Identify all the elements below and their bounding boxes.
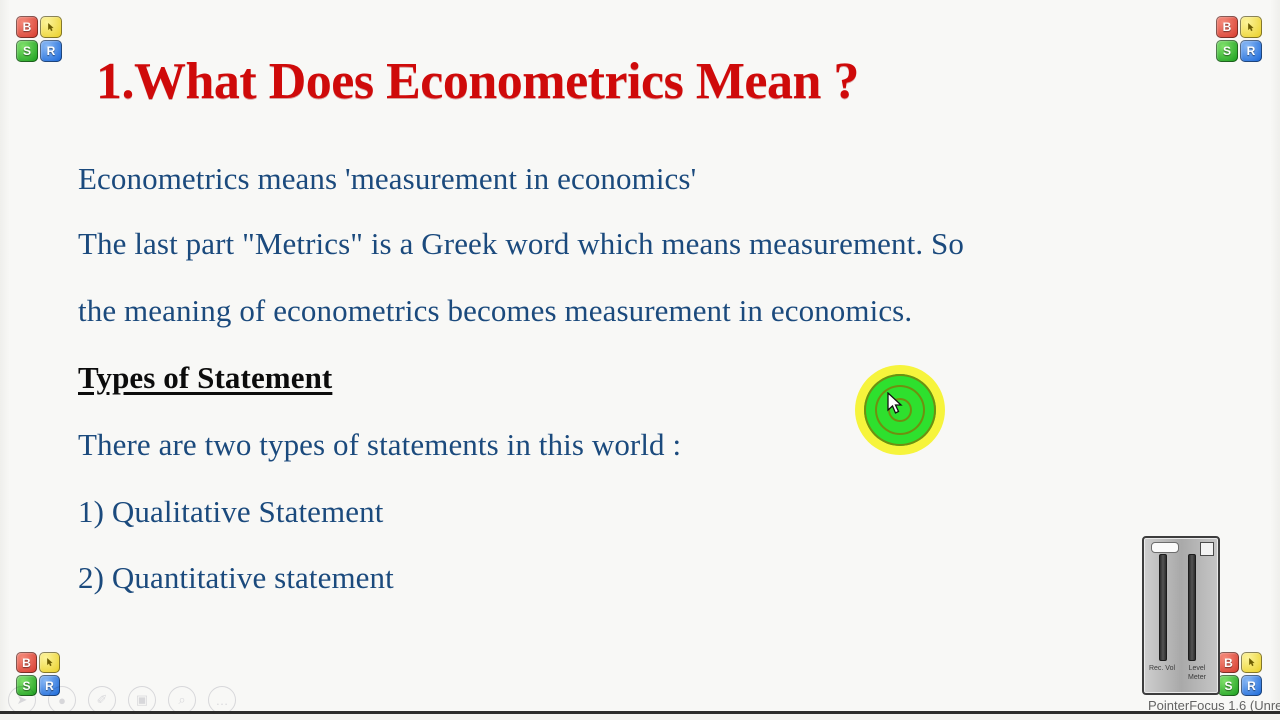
mini-cursor-icon: [47, 658, 53, 667]
slide-body-line-2: The last part "Metrics" is a Greek word …: [78, 226, 964, 262]
level-meter-label: Level Meter: [1182, 664, 1212, 682]
mini-cursor-icon: [48, 23, 54, 32]
mixer-drag-handle[interactable]: [1151, 542, 1179, 553]
slide-section-heading: Types of Statement: [78, 360, 332, 396]
highlight-button[interactable]: ●: [48, 686, 76, 714]
badge-cell-b[interactable]: B: [16, 16, 38, 38]
badge-cell-r[interactable]: R: [1241, 675, 1262, 696]
badge-cell-b[interactable]: B: [16, 652, 37, 673]
badge-cell-cursor[interactable]: [1241, 652, 1262, 673]
slide-body-line-3: the meaning of econometrics becomes meas…: [78, 293, 912, 329]
recorder-mixer-panel[interactable]: Rec. Vol Level Meter: [1142, 536, 1220, 695]
badge-cell-s[interactable]: S: [16, 40, 38, 62]
rec-volume-slider[interactable]: [1159, 554, 1167, 661]
mixer-close-button[interactable]: [1200, 542, 1214, 556]
badge-cell-s[interactable]: S: [1216, 40, 1238, 62]
badge-cell-cursor[interactable]: [39, 652, 60, 673]
badge-cell-r[interactable]: R: [40, 40, 62, 62]
badge-cell-cursor[interactable]: [40, 16, 62, 38]
slide-left-edge-shade: [0, 0, 10, 720]
slide-list-item-2: 2) Quantitative statement: [78, 560, 394, 596]
level-meter-slider[interactable]: [1188, 554, 1196, 661]
badge-cell-b[interactable]: B: [1216, 16, 1238, 38]
slide-body-line-5: There are two types of statements in thi…: [78, 427, 681, 463]
presentation-slide: 1.What Does Econometrics Mean ? Economet…: [0, 0, 1280, 720]
badge-cell-s[interactable]: S: [1218, 675, 1239, 696]
pointerfocus-badge-bottom-right[interactable]: B S R: [1218, 652, 1262, 696]
badge-cell-b[interactable]: B: [1218, 652, 1239, 673]
bottom-strip: [0, 714, 1280, 720]
mini-cursor-icon: [1248, 23, 1254, 32]
screen-recorder-toolbar[interactable]: ➤ ● ✐ ▣ ⌕ …: [8, 686, 236, 714]
magnifier-button[interactable]: ⌕: [168, 686, 196, 714]
slide-list-item-1: 1) Qualitative Statement: [78, 494, 383, 530]
pointerfocus-badge-top-right[interactable]: B S R: [1216, 16, 1262, 62]
pen-button[interactable]: ✐: [88, 686, 116, 714]
badge-cell-r[interactable]: R: [1240, 40, 1262, 62]
badge-cell-cursor[interactable]: [1240, 16, 1262, 38]
pointerfocus-badge-top-left[interactable]: B S R: [16, 16, 62, 62]
more-button[interactable]: …: [208, 686, 236, 714]
slide-body-line-1: Econometrics means 'measurement in econo…: [78, 161, 696, 197]
pointer-button[interactable]: ➤: [8, 686, 36, 714]
rec-volume-label: Rec. Vol: [1147, 664, 1177, 673]
screenshot-button[interactable]: ▣: [128, 686, 156, 714]
mini-cursor-icon: [1249, 658, 1255, 667]
mouse-pointer-icon: [887, 392, 903, 416]
slide-title: 1.What Does Econometrics Mean ?: [96, 52, 859, 111]
slide-right-edge-shade: [1270, 0, 1280, 720]
